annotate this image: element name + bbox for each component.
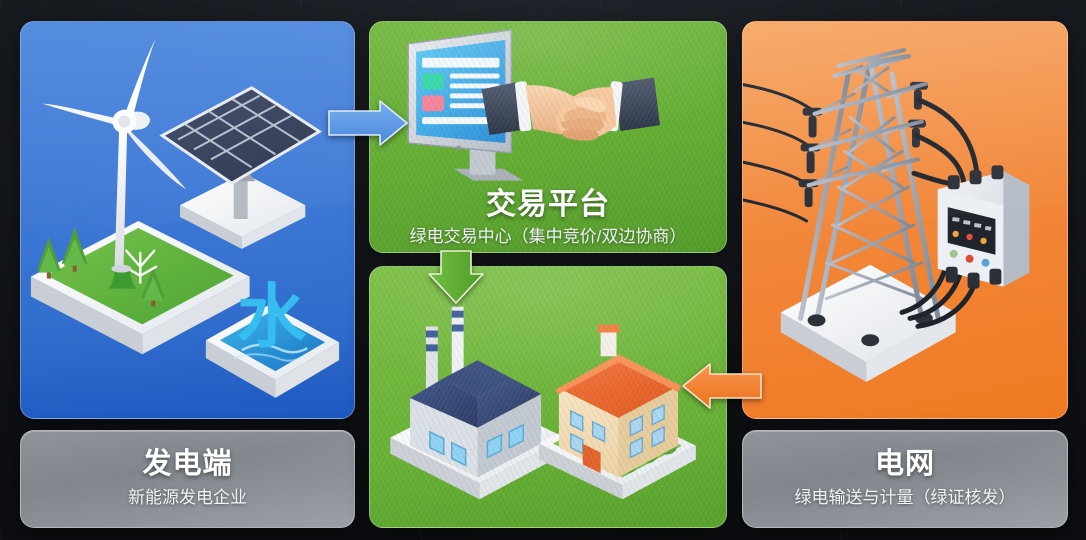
platform-subtitle: 绿电交易中心（集中竞价/双边协商） [370,227,726,247]
meter-cabinet-icon [938,165,1029,288]
diagram-canvas: 水 发电端 新能源发电企业 [0,0,1086,540]
handshake-icon [482,78,660,141]
panel-user-side[interactable]: 用户端 企业/个人绿电采购方 [369,266,727,528]
platform-title: 交易平台 [370,188,726,221]
arrow-platform-to-user [428,250,484,304]
grid-title: 电网 [875,449,935,481]
generation-illustration: 水 [21,22,354,418]
panel-generation[interactable]: 水 [20,21,355,419]
caption-card-generation[interactable]: 发电端 新能源发电企业 [20,430,355,528]
panel-power-grid[interactable] [742,21,1068,419]
water-character: 水 [237,277,307,355]
caption-card-grid[interactable]: 电网 绿电输送与计量（绿证核发） [742,430,1068,528]
arrow-grid-to-user [682,363,762,409]
generation-subtitle: 新能源发电企业 [128,488,247,508]
factory-icon [410,307,541,478]
caption-trading-platform: 交易平台 绿电交易中心（集中竞价/双边协商） [370,188,726,247]
solar-panel-icon [162,88,319,249]
generation-title: 发电端 [142,449,232,481]
grid-subtitle: 绿电输送与计量（绿证核发） [795,488,1016,508]
grid-illustration [743,22,1067,418]
arrow-generation-to-platform [328,100,408,146]
user-illustration [370,267,726,527]
panel-trading-platform[interactable]: 交易平台 绿电交易中心（集中竞价/双边协商） [369,21,727,253]
